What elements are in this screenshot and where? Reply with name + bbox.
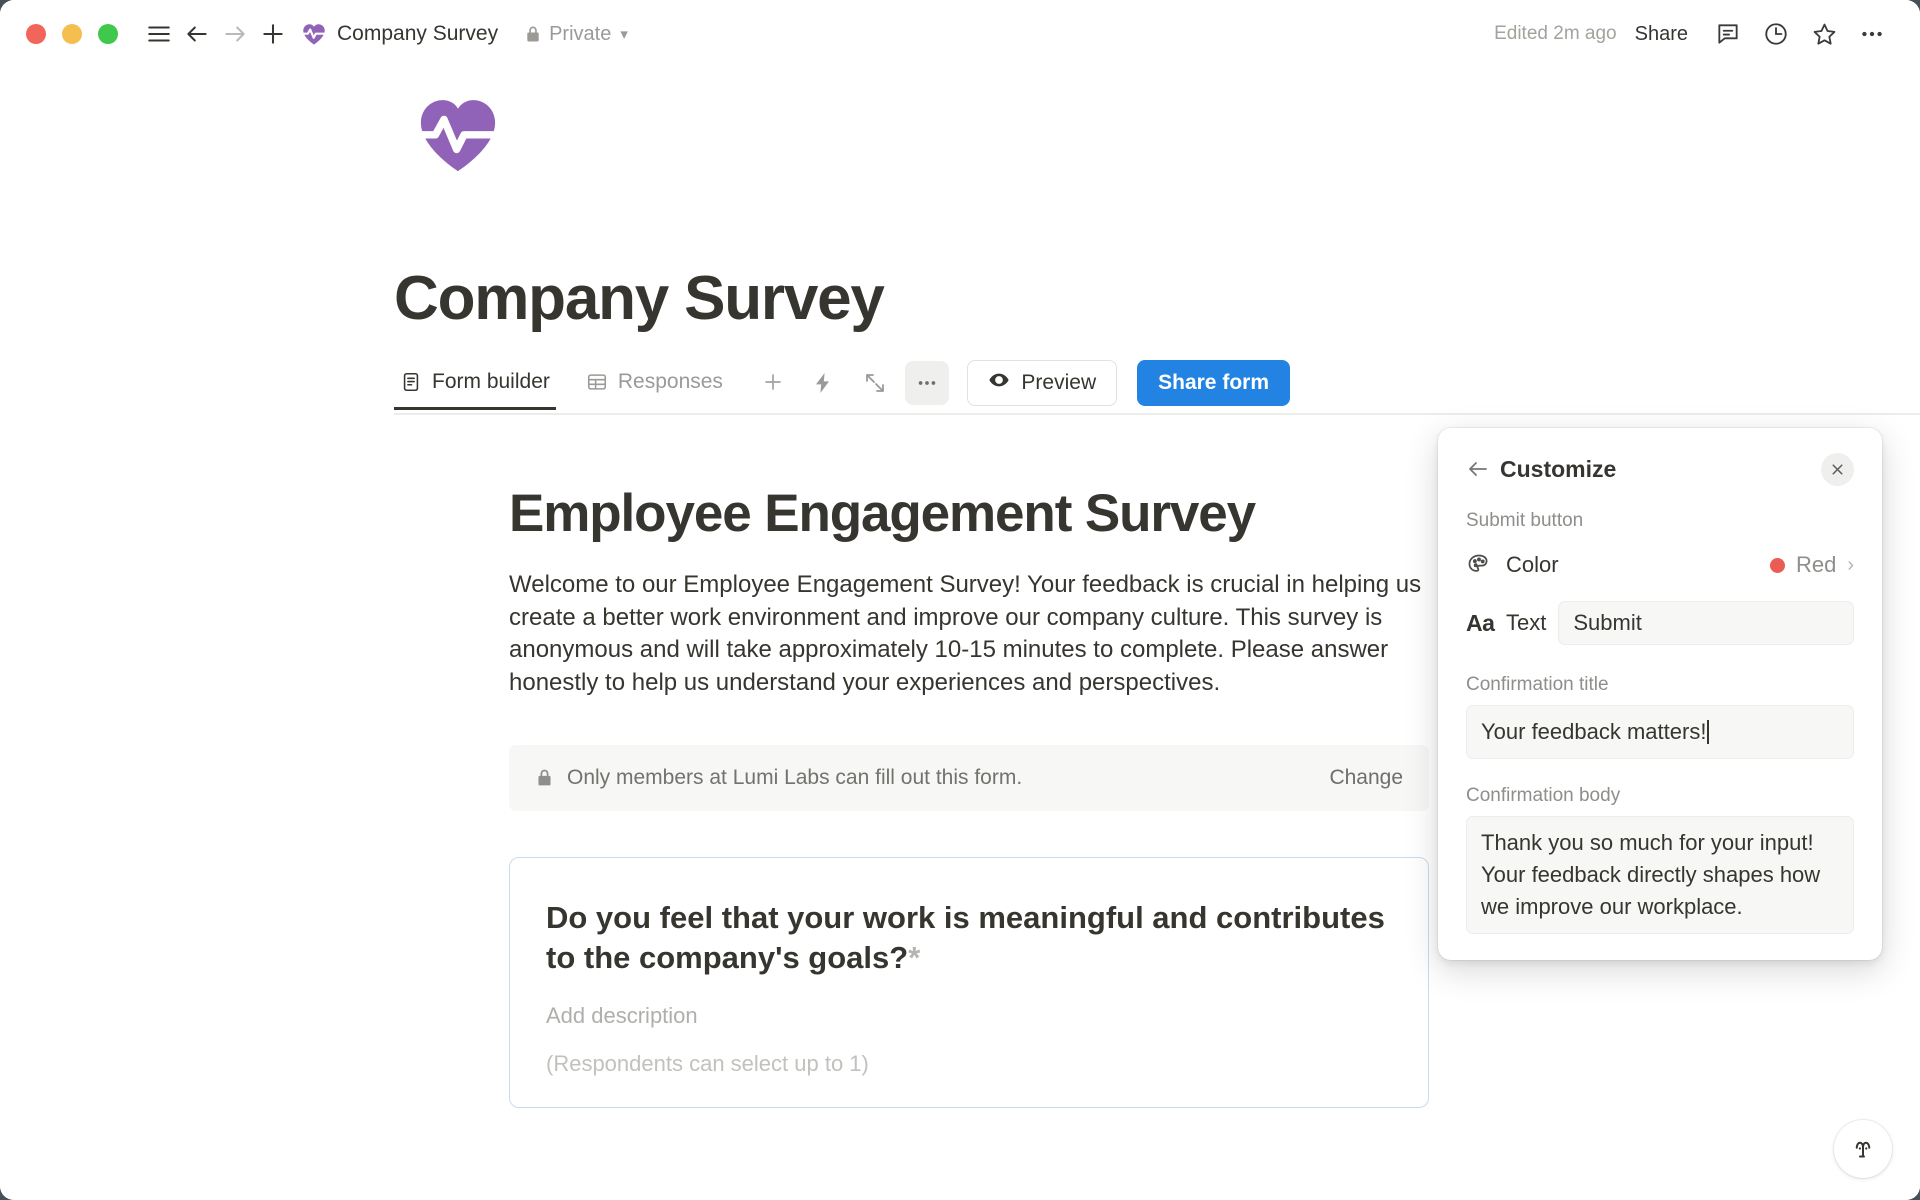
page-title[interactable]: Company Survey (394, 263, 884, 334)
text-caret (1707, 720, 1709, 744)
share-button[interactable]: Share (1635, 23, 1688, 46)
confirmation-body-label: Confirmation body (1466, 785, 1854, 807)
lightning-bolt-icon[interactable] (801, 361, 845, 405)
form-description[interactable]: Welcome to our Employee Engagement Surve… (509, 569, 1429, 699)
form-permission-bar: Only members at Lumi Labs can fill out t… (509, 745, 1429, 811)
text-format-icon: Aa (1466, 610, 1506, 637)
close-window-button[interactable] (26, 24, 46, 44)
clock-history-icon[interactable] (1754, 14, 1798, 54)
panel-header: Customize (1466, 450, 1854, 488)
question-select-hint: (Respondents can select up to 1) (546, 1051, 1392, 1077)
preview-label: Preview (1021, 371, 1096, 395)
panel-back-arrow-icon[interactable] (1466, 457, 1496, 481)
lock-icon (535, 768, 554, 787)
form-heading[interactable]: Employee Engagement Survey (509, 484, 1429, 543)
color-swatch (1770, 558, 1785, 573)
submit-text-row: Aa Text Submit (1466, 598, 1854, 648)
submit-button-section-label: Submit button (1466, 510, 1854, 532)
privacy-label: Private (549, 23, 611, 46)
comment-icon[interactable] (1706, 14, 1750, 54)
chevron-right-icon: › (1847, 554, 1854, 577)
permission-text: Only members at Lumi Labs can fill out t… (567, 766, 1022, 790)
submit-text-input[interactable]: Submit (1558, 601, 1854, 645)
submit-color-row[interactable]: Color Red › (1466, 540, 1854, 590)
heartbeat-heart-icon (300, 20, 328, 48)
document-title[interactable]: Company Survey (337, 22, 498, 46)
palette-icon (1466, 552, 1506, 578)
page-heartbeat-heart-icon[interactable] (414, 90, 502, 178)
form-toolbar: Preview Share form (801, 356, 1290, 410)
window-controls (26, 24, 118, 44)
maximize-window-button[interactable] (98, 24, 118, 44)
back-arrow-icon[interactable] (178, 15, 216, 53)
lock-icon (524, 25, 542, 43)
forward-arrow-icon[interactable] (216, 15, 254, 53)
question-card[interactable]: Do you feel that your work is meaningful… (509, 857, 1429, 1108)
text-row-label: Text (1506, 610, 1546, 636)
expand-diagonal-icon[interactable] (853, 361, 897, 405)
color-value: Red (1796, 552, 1836, 578)
question-title-text: Do you feel that your work is meaningful… (546, 900, 1385, 975)
share-form-button[interactable]: Share form (1137, 360, 1290, 406)
confirmation-title-value: Your feedback matters! (1481, 719, 1706, 744)
menu-icon[interactable] (140, 15, 178, 53)
tab-label: Responses (618, 370, 723, 394)
title-bar: Company Survey Private ▾ Edited 2m ago S… (0, 0, 1920, 68)
question-description-input[interactable]: Add description (546, 1003, 1392, 1029)
titlebar-actions: Edited 2m ago Share (1494, 14, 1894, 54)
chevron-down-icon: ▾ (620, 25, 628, 43)
question-title[interactable]: Do you feel that your work is meaningful… (546, 898, 1392, 977)
close-icon[interactable] (1821, 453, 1854, 486)
required-marker: * (908, 940, 920, 975)
change-permission-button[interactable]: Change (1329, 766, 1403, 790)
plus-icon[interactable] (254, 15, 292, 53)
edited-timestamp: Edited 2m ago (1494, 23, 1617, 45)
tab-responses[interactable]: Responses (580, 356, 729, 410)
confirmation-title-label: Confirmation title (1466, 674, 1854, 696)
confirmation-title-input[interactable]: Your feedback matters! (1466, 705, 1854, 759)
eye-icon (988, 369, 1010, 397)
confirmation-body-input[interactable]: Thank you so much for your input! Your f… (1466, 816, 1854, 934)
more-options-icon[interactable] (905, 361, 949, 405)
more-horizontal-icon[interactable] (1850, 14, 1894, 54)
privacy-selector[interactable]: Private ▾ (524, 23, 628, 46)
tab-label: Form builder (432, 370, 550, 394)
tab-form-builder[interactable]: Form builder (394, 356, 556, 410)
color-row-label: Color (1506, 552, 1559, 578)
form-doc-icon (400, 371, 422, 393)
add-tab-button[interactable] (753, 356, 793, 408)
customize-panel: Customize Submit button Color Red › (1438, 428, 1882, 960)
app-window: Company Survey Private ▾ Edited 2m ago S… (0, 0, 1920, 1200)
preview-button[interactable]: Preview (967, 360, 1117, 406)
sparkle-assistant-icon[interactable] (1834, 1120, 1892, 1178)
table-icon (586, 371, 608, 393)
minimize-window-button[interactable] (62, 24, 82, 44)
panel-title: Customize (1500, 456, 1616, 483)
star-icon[interactable] (1802, 14, 1846, 54)
